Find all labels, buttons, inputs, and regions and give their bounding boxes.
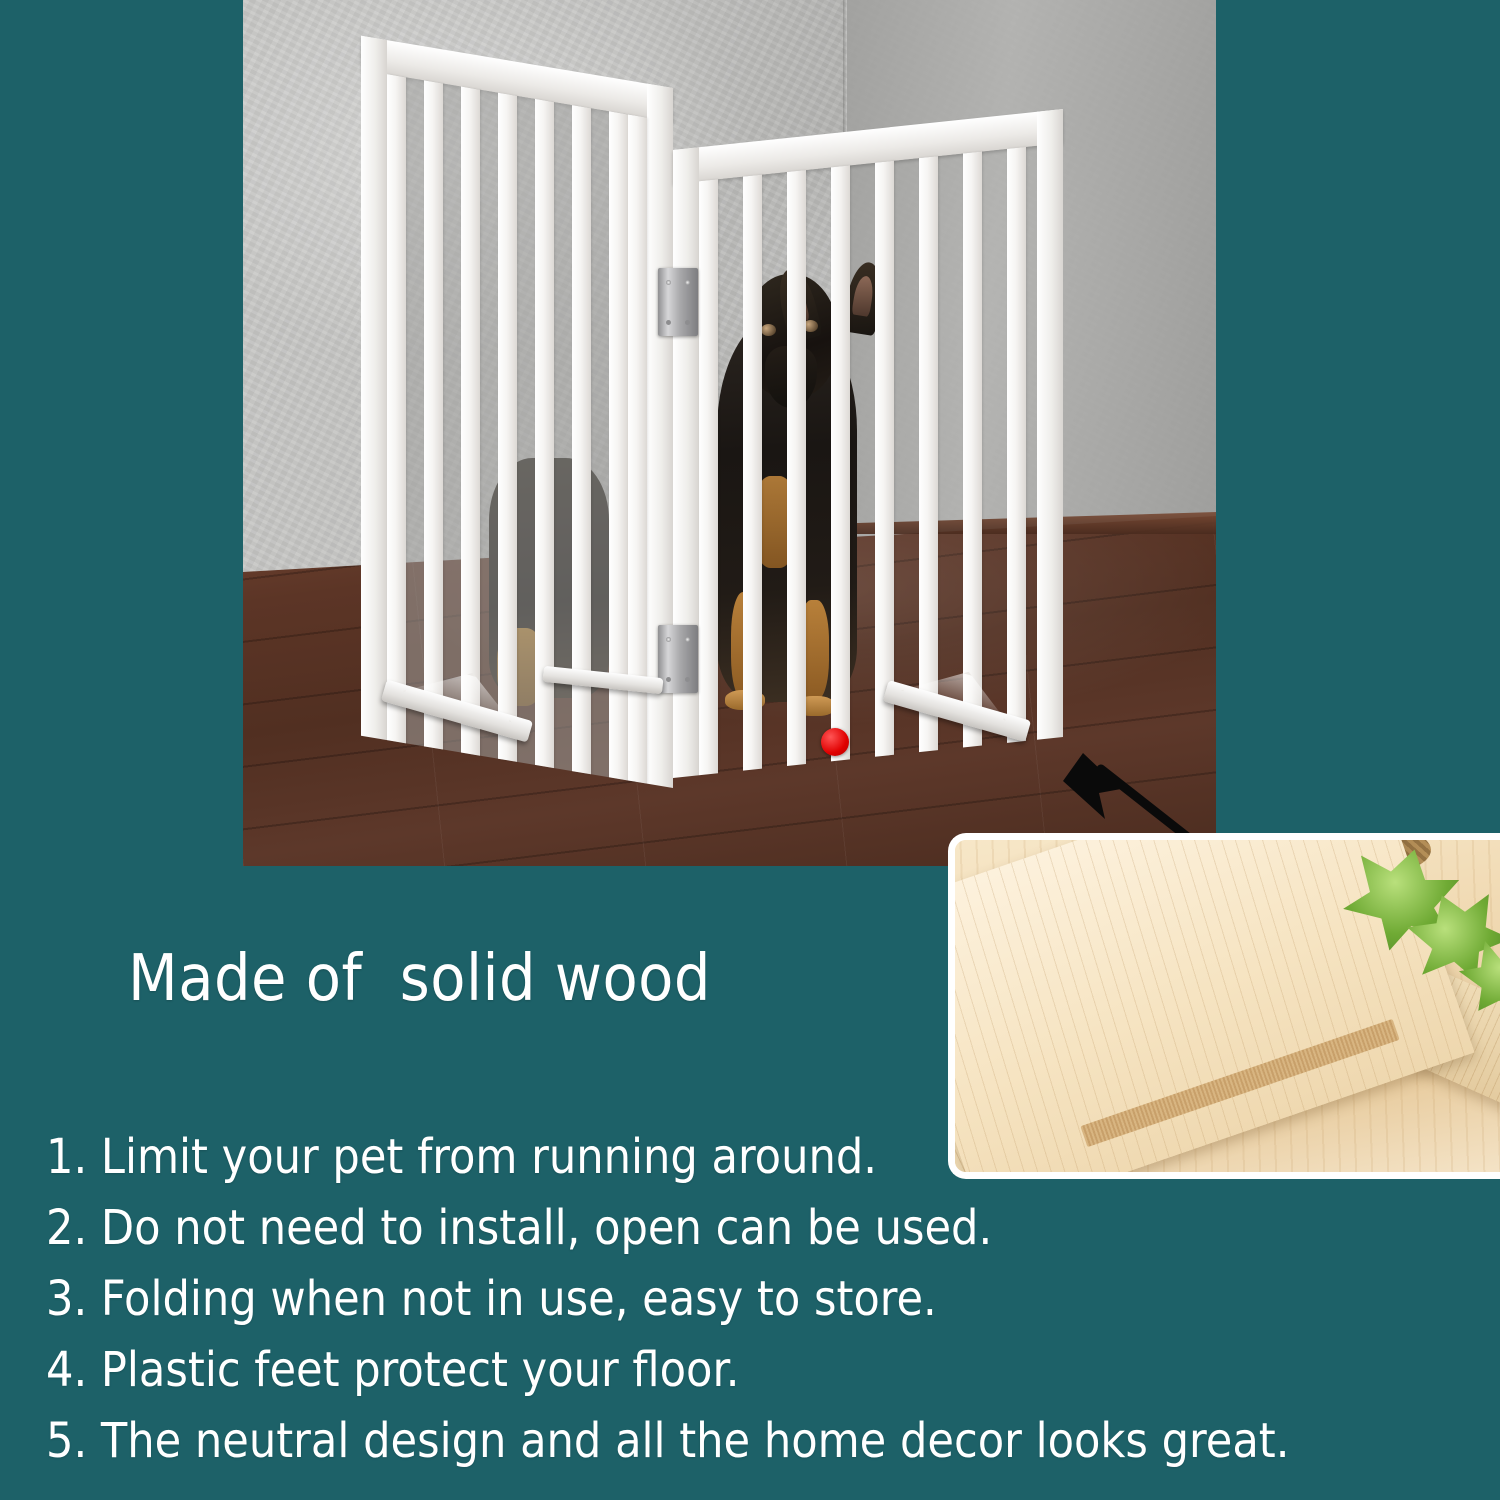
gate-hinge-top: [658, 268, 698, 336]
list-item: 1. Limit your pet from running around.: [46, 1122, 1466, 1193]
callout-red-dot-marker: [821, 728, 849, 756]
hero-product-photo: [243, 0, 1216, 866]
list-item: 5. The neutral design and all the home d…: [46, 1406, 1466, 1477]
page-title: Made of solid wood: [128, 942, 711, 1016]
list-item: 2. Do not need to install, open can be u…: [46, 1193, 1466, 1264]
feature-list: 1. Limit your pet from running around. 2…: [46, 1122, 1466, 1477]
gate-slats-right: [699, 146, 1037, 776]
gate-stile-left-outer: [361, 36, 387, 740]
gate-hinge-bottom: [658, 625, 698, 693]
gate-panel-right: [673, 109, 1063, 778]
list-item: 4. Plastic feet protect your floor.: [46, 1335, 1466, 1406]
gate-stile-right-outer: [1037, 109, 1063, 740]
list-item: 3. Folding when not in use, easy to stor…: [46, 1264, 1466, 1335]
